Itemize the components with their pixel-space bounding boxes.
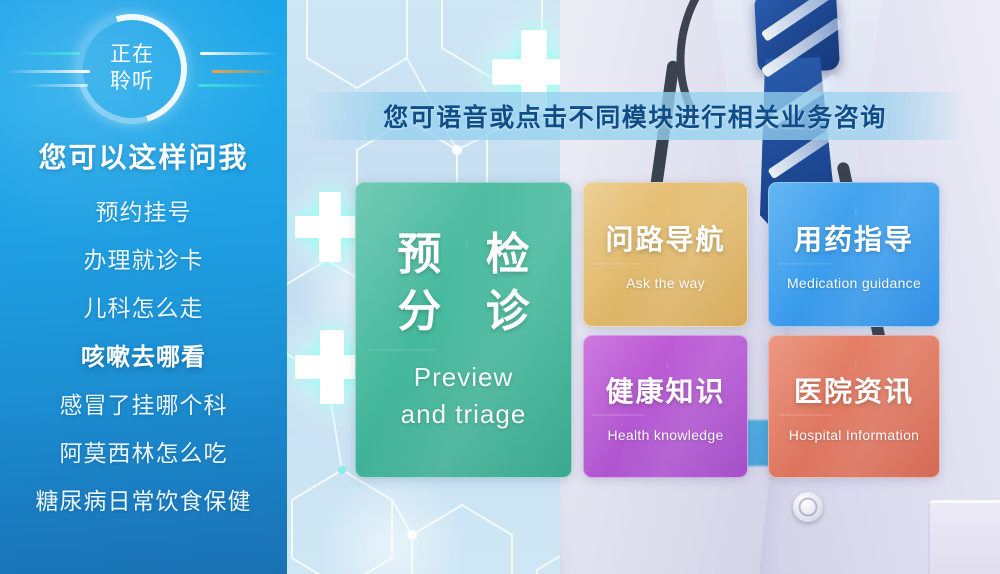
deco-line [198,84,270,87]
card-medication-en: Medication guidance [787,275,921,291]
module-card-triage[interactable]: 预 检 分 诊 Preview and triage [355,182,572,478]
list-item[interactable]: 办理就诊卡 [0,234,287,282]
page-title: 您可以这样问我 [0,136,287,176]
coat-pocket [928,500,1000,574]
deco-line [212,70,278,73]
deco-line [200,52,278,55]
card-hospital-en: Hospital Information [789,427,920,443]
module-card-health-knowledge[interactable]: 健康知识 Health knowledge [583,335,748,478]
list-item[interactable]: 阿莫西林怎么吃 [0,427,287,475]
listening-label-line2: 聆听 [110,69,154,96]
coat-button [793,492,823,522]
listening-label-line1: 正在 [110,42,154,69]
card-triage-en-line2: and triage [401,396,527,434]
deco-line [14,52,80,55]
card-way-en: Ask the way [626,275,705,291]
list-item-active[interactable]: 咳嗽去哪看 [0,330,287,379]
module-card-medication-guidance[interactable]: 用药指导 Medication guidance [768,182,940,327]
list-item[interactable]: 儿科怎么走 [0,282,287,330]
instruction-banner: 您可语音或点击不同模块进行相关业务咨询 [310,92,960,140]
card-health-en: Health knowledge [607,427,723,443]
voice-sidebar: 正在 聆听 您可以这样问我 预约挂号 办理就诊卡 儿科怎么走 咳嗽去哪看 感冒了… [0,0,287,574]
card-triage-en-line1: Preview [414,359,513,397]
kiosk-screen: 您可语音或点击不同模块进行相关业务咨询 预 检 分 诊 Preview and … [0,0,1000,574]
list-item[interactable]: 糖尿病日常饮食保健 [0,475,287,523]
listening-spinner: 正在 聆听 [77,14,187,124]
module-card-ask-the-way[interactable]: 问路导航 Ask the way [583,182,748,327]
suggestion-list: 预约挂号 办理就诊卡 儿科怎么走 咳嗽去哪看 感冒了挂哪个科 阿莫西林怎么吃 糖… [0,186,287,523]
module-card-hospital-information[interactable]: 医院资讯 Hospital Information [768,335,940,478]
banner-text: 您可语音或点击不同模块进行相关业务咨询 [383,98,887,134]
list-item[interactable]: 预约挂号 [0,186,287,234]
list-item[interactable]: 感冒了挂哪个科 [0,379,287,427]
